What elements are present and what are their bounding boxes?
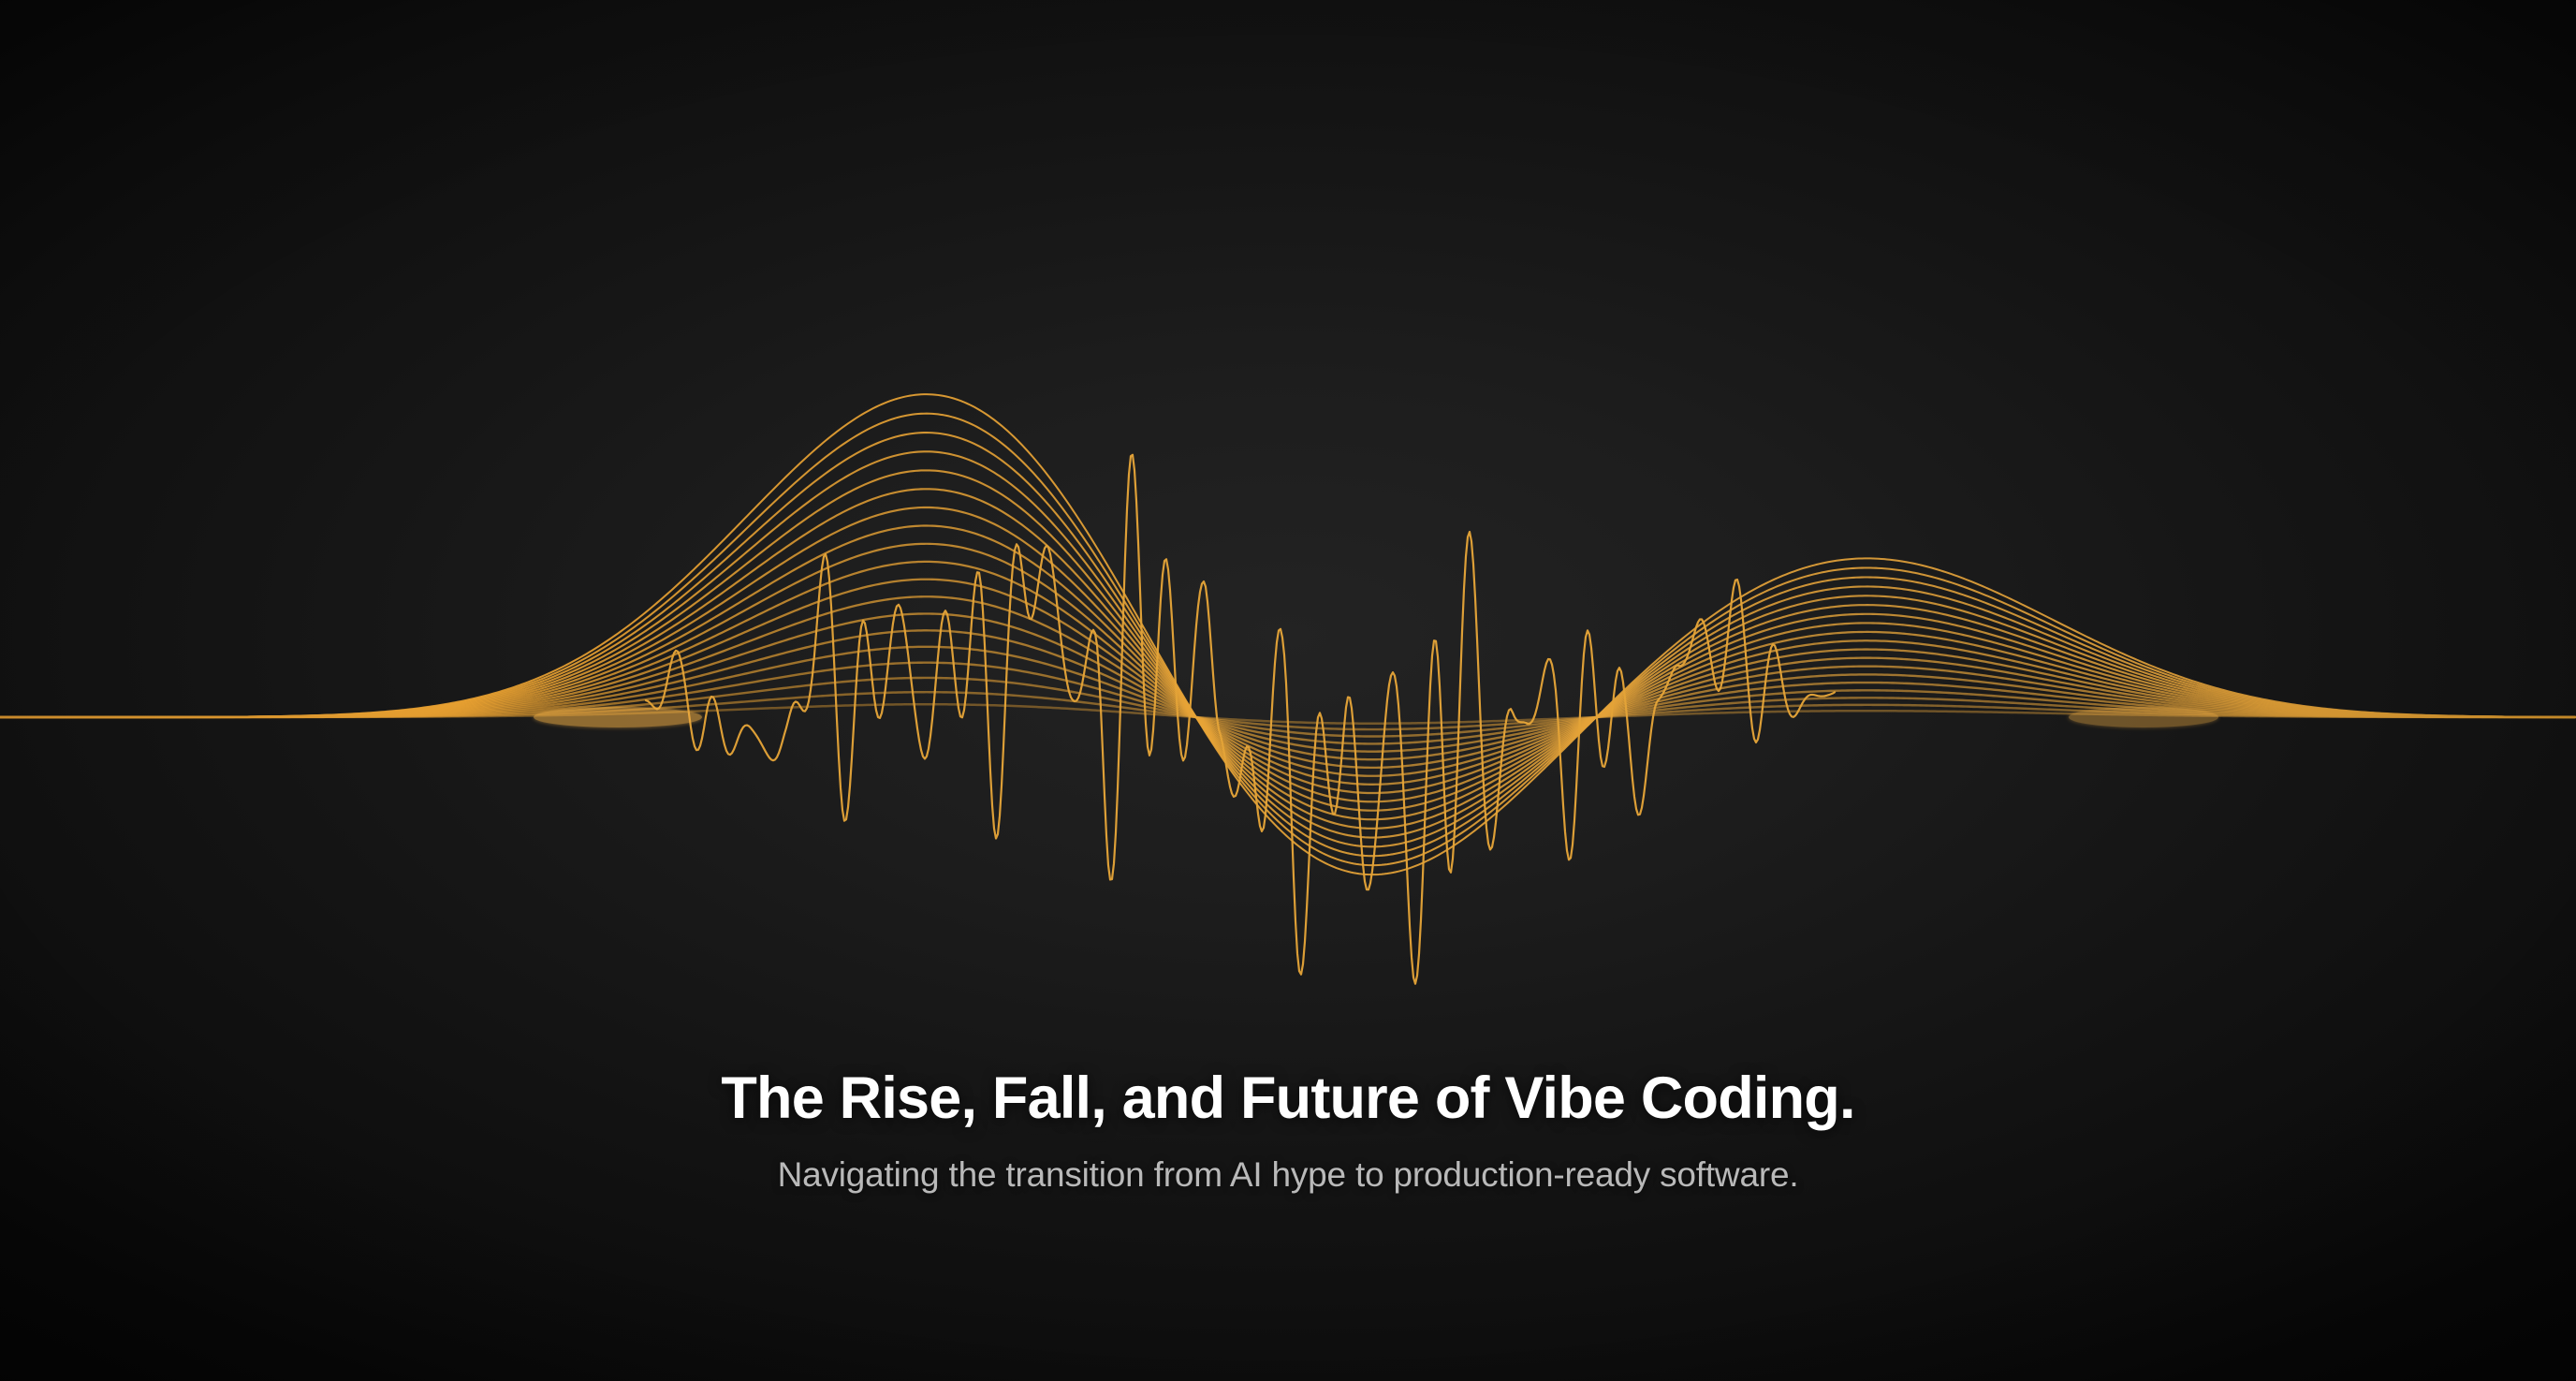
- audio-waveform-graphic: [0, 0, 2576, 1030]
- page-title: The Rise, Fall, and Future of Vibe Codin…: [0, 1067, 2576, 1130]
- waveform-svg: [0, 0, 2576, 1030]
- hero-banner: The Rise, Fall, and Future of Vibe Codin…: [0, 0, 2576, 1381]
- waveform-lines: [0, 394, 2576, 984]
- page-subtitle: Navigating the transition from AI hype t…: [0, 1154, 2576, 1196]
- caption-block: The Rise, Fall, and Future of Vibe Codin…: [0, 1067, 2576, 1196]
